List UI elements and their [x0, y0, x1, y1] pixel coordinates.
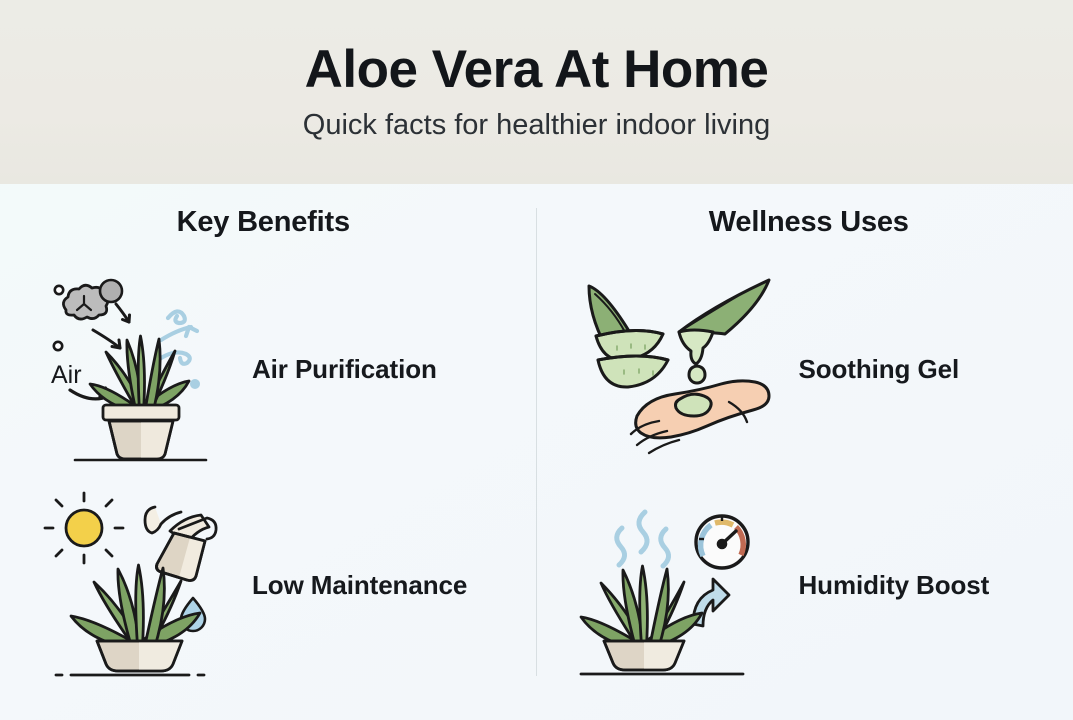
key-benefits-list: Air [0, 261, 537, 693]
aloe-air-purification-icon: Air [40, 274, 240, 464]
page-subtitle: Quick facts for healthier indoor living [303, 110, 770, 142]
list-item-humidity-boost[interactable]: Humidity Boost [537, 477, 1073, 693]
list-item-label-air-purification: Air Purification [252, 354, 437, 385]
column-wellness-uses: Wellness Uses [537, 184, 1073, 720]
list-item-soothing-gel[interactable]: Soothing Gel [537, 261, 1073, 477]
icon-caption-air: Air [51, 361, 82, 389]
column-heading-wellness-uses: Wellness Uses [537, 206, 1073, 239]
aloe-gel-hand-icon [579, 274, 779, 464]
column-divider [536, 208, 537, 676]
wellness-uses-list: Soothing Gel [537, 261, 1073, 693]
infographic-canvas: Aloe Vera At Home Quick facts for health… [0, 0, 1073, 720]
aloe-low-maintenance-icon [40, 490, 240, 680]
column-key-benefits: Key Benefits [0, 184, 537, 720]
list-item-label-soothing-gel: Soothing Gel [799, 354, 960, 385]
column-heading-key-benefits: Key Benefits [0, 206, 537, 239]
list-item-label-low-maintenance: Low Maintenance [252, 570, 467, 601]
list-item-low-maintenance[interactable]: Low Maintenance [0, 477, 537, 693]
header-band: Aloe Vera At Home Quick facts for health… [0, 0, 1073, 184]
list-item-air-purification[interactable]: Air [0, 261, 537, 477]
page-title: Aloe Vera At Home [305, 42, 769, 97]
aloe-humidity-gauge-icon [579, 490, 779, 680]
list-item-label-humidity-boost: Humidity Boost [799, 570, 990, 601]
